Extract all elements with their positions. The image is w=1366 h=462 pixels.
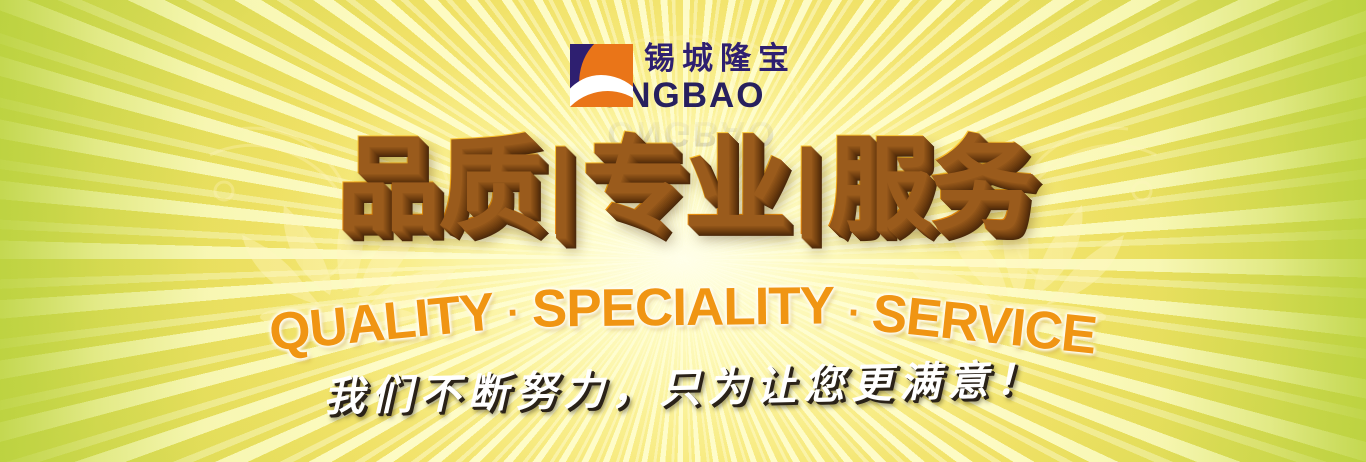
english-separator-1: · (493, 290, 533, 336)
headline-word-1: 品质 (335, 128, 539, 240)
promo-banner: ONGBAO 锡城隆宝 ONGBAO 品质|专业|服务 QUALITY·SPEC… (0, 0, 1366, 462)
headline-separator-2: | (785, 135, 827, 234)
sail-logo-icon[interactable] (570, 44, 633, 107)
brand-chinese-name: 锡城隆宝 (644, 44, 796, 75)
headline-separator-1: | (539, 135, 581, 234)
english-separator-2: · (833, 290, 874, 337)
headline-word-2: 专业 (581, 128, 785, 240)
headline-word-3: 服务 (827, 128, 1031, 240)
brand-logo[interactable]: 锡城隆宝 ONGBAO (0, 44, 1366, 113)
english-subheadline: QUALITY·SPECIALITY·SERVICE (0, 282, 1366, 350)
brand-logo-text: 锡城隆宝 ONGBAO (644, 44, 796, 113)
headline: 品质|专业|服务 (0, 128, 1366, 240)
english-word-speciality: SPECIALITY (532, 275, 835, 339)
